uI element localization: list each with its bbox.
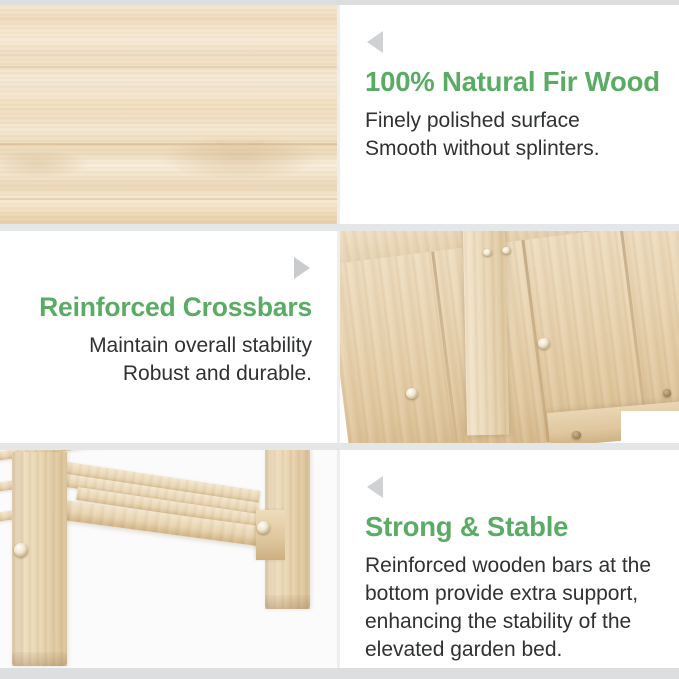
- panel-heading: 100% Natural Fir Wood: [365, 67, 661, 98]
- elevated-bed-legs-bottom-shelf: [0, 450, 337, 668]
- panel-reinforced-crossbars-text: Reinforced Crossbars Maintain overall st…: [0, 231, 337, 443]
- arrow-right-icon: [294, 257, 310, 279]
- leg-foot: [265, 595, 310, 609]
- photo-white-background-corner: [621, 411, 679, 443]
- screw-head: [572, 431, 581, 439]
- reinforcing-crossbar: [463, 231, 510, 435]
- body-line: Reinforced wooden bars at the: [365, 552, 661, 580]
- panel-natural-fir-wood-text: 100% Natural Fir Wood Finely polished su…: [340, 5, 679, 224]
- fir-wood-grain-closeup: [0, 5, 337, 224]
- leg-foot: [12, 652, 68, 666]
- grain-line: [0, 198, 337, 200]
- screw-head: [663, 389, 671, 397]
- plank-seam: [432, 251, 460, 443]
- leg-inner-face: [12, 452, 24, 666]
- plank-seam: [620, 231, 648, 430]
- body-line: Robust and durable.: [18, 360, 312, 388]
- wood-grain-swirl: [0, 150, 88, 178]
- panel-body-text: Finely polished surface Smooth without s…: [365, 107, 661, 163]
- corner-bracket: [256, 510, 285, 560]
- bottom-frame-strip: [0, 668, 679, 679]
- panel-heading: Reinforced Crossbars: [18, 293, 312, 323]
- panel-body-text: Maintain overall stability Robust and du…: [18, 332, 312, 388]
- column-divider: [337, 450, 340, 668]
- wood-grain-swirl: [162, 136, 317, 180]
- planter-box-crossbar-closeup: [340, 231, 679, 443]
- body-line: Maintain overall stability: [18, 332, 312, 360]
- body-line: elevated garden bed.: [365, 636, 661, 664]
- screw-head: [14, 543, 28, 557]
- garden-bed-leg: [12, 452, 68, 666]
- body-line: bottom provide extra support,: [365, 580, 661, 608]
- panel-strong-stable-photo: [0, 450, 337, 668]
- arrow-left-icon: [367, 476, 383, 498]
- grain-line: [0, 66, 337, 68]
- arrow-left-icon: [367, 31, 383, 53]
- column-divider: [337, 231, 340, 443]
- top-frame-strip: [0, 0, 679, 5]
- screw-head: [257, 521, 270, 534]
- panel-body-text: Reinforced wooden bars at the bottom pro…: [365, 552, 661, 665]
- panel-reinforced-crossbars-photo: [340, 231, 679, 443]
- product-feature-infographic: 100% Natural Fir Wood Finely polished su…: [0, 0, 679, 679]
- row-divider: [0, 224, 679, 231]
- panel-natural-fir-wood-photo: [0, 5, 337, 224]
- panel-heading: Strong & Stable: [365, 512, 661, 543]
- row-divider: [0, 443, 679, 450]
- column-divider: [337, 5, 340, 224]
- body-line: Smooth without splinters.: [365, 135, 661, 163]
- body-line: enhancing the stability of the: [365, 608, 661, 636]
- body-line: Finely polished surface: [365, 107, 661, 135]
- panel-strong-stable-text: Strong & Stable Reinforced wooden bars a…: [340, 450, 679, 668]
